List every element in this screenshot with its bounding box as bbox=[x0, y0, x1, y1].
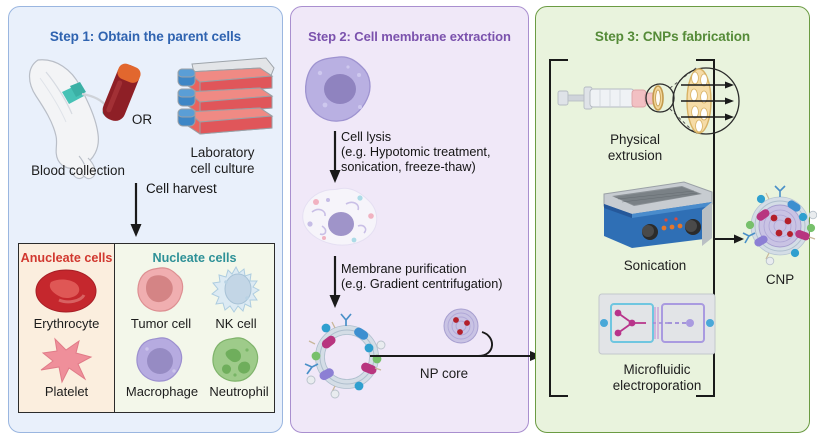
or-label: OR bbox=[122, 112, 162, 128]
erythrocyte-label: Erythrocyte bbox=[19, 316, 114, 331]
cell-lysis-label: Cell lysis (e.g. Hypotomic treatment, so… bbox=[341, 130, 491, 175]
macrophage-icon bbox=[135, 337, 185, 383]
np-core-label: NP core bbox=[399, 366, 489, 382]
neutrophil-label: Neutrophil bbox=[203, 384, 275, 399]
erythrocyte-icon bbox=[35, 268, 97, 314]
sonication-label: Sonication bbox=[595, 258, 715, 274]
nk-cell-icon bbox=[211, 266, 261, 314]
step3-title: Step 3: CNPs fabrication bbox=[536, 29, 809, 44]
membrane-purification-label: Membrane purification (e.g. Gradient cen… bbox=[341, 262, 503, 292]
step1-title: Step 1: Obtain the parent cells bbox=[9, 29, 282, 44]
step2-title: Step 2: Cell membrane extraction bbox=[291, 29, 528, 44]
neutrophil-icon bbox=[211, 337, 261, 383]
lab-culture-icon bbox=[174, 52, 279, 138]
cnp-label: CNP bbox=[740, 272, 817, 288]
macrophage-label: Macrophage bbox=[115, 384, 209, 399]
nucleate-cells-header: Nucleate cells bbox=[115, 251, 274, 265]
intact-cell-icon bbox=[303, 55, 375, 125]
physical-extrusion-label: Physical extrusion bbox=[580, 132, 690, 163]
cell-types-table: Anucleate cells Erythrocyte Platelet Nuc… bbox=[18, 243, 275, 413]
cell-harvest-label: Cell harvest bbox=[146, 181, 217, 197]
cell-harvest-arrow bbox=[128, 183, 148, 239]
lysed-cell-icon bbox=[298, 186, 384, 248]
microfluidic-electroporation-label: Microfluidic electroporation bbox=[592, 362, 722, 393]
platelet-icon bbox=[35, 337, 97, 385]
sonicator-bath-icon bbox=[598, 176, 718, 256]
lab-culture-label: Laboratory cell culture bbox=[160, 145, 285, 176]
nk-cell-label: NK cell bbox=[203, 316, 269, 331]
microfluidic-chip-icon bbox=[598, 293, 716, 355]
figure-canvas: Step 1: Obtain the parent cells bbox=[0, 0, 817, 439]
nucleate-cells-column: Nucleate cells Tumor cell bbox=[115, 244, 274, 412]
anucleate-cells-header: Anucleate cells bbox=[19, 251, 114, 265]
anucleate-cells-column: Anucleate cells Erythrocyte Platelet bbox=[19, 244, 115, 412]
blood-collection-label: Blood collection bbox=[8, 163, 148, 179]
tumor-cell-label: Tumor cell bbox=[121, 316, 201, 331]
tumor-cell-icon bbox=[135, 266, 185, 314]
cnp-icon bbox=[739, 185, 817, 267]
platelet-label: Platelet bbox=[19, 384, 114, 399]
